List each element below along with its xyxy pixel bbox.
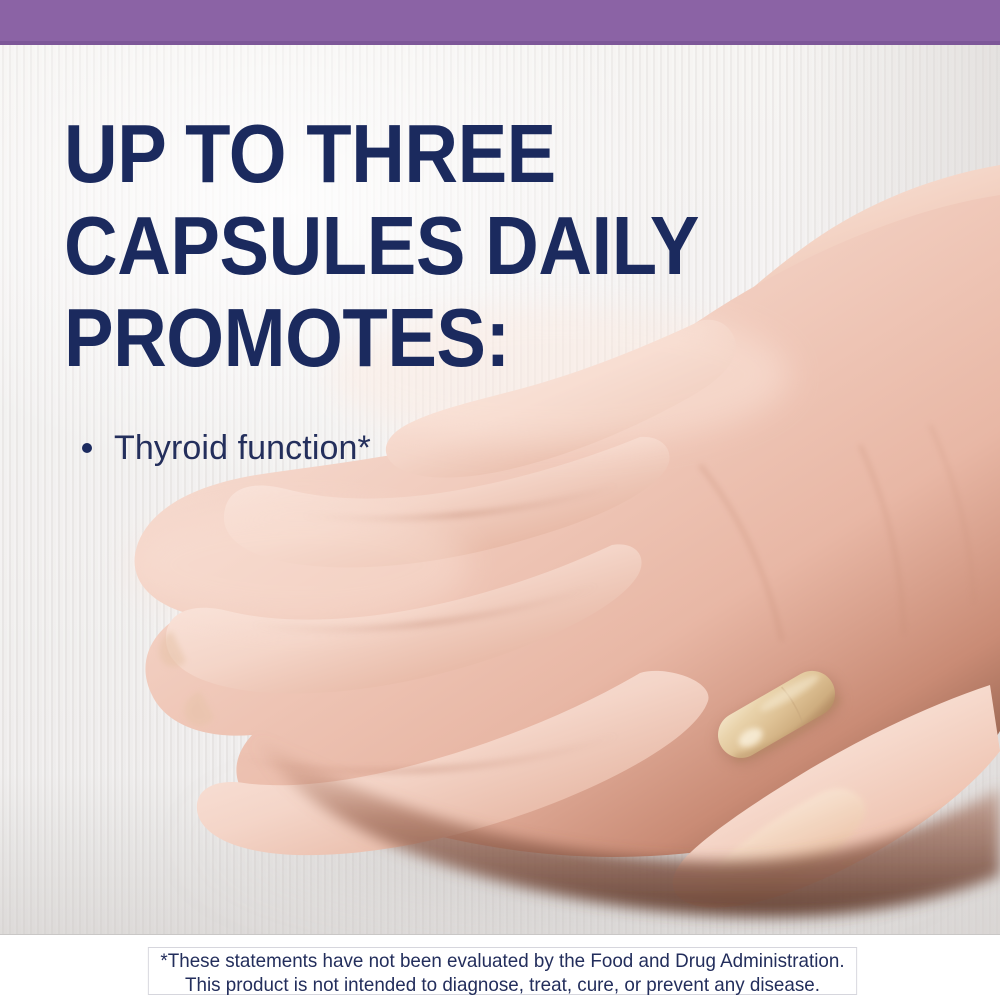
finger-highlight bbox=[130, 505, 470, 625]
page-title: UP TO THREE CAPSULES DAILY PROMOTES: bbox=[64, 108, 744, 384]
list-item: Thyroid function* bbox=[82, 428, 682, 468]
benefit-label: Thyroid function* bbox=[114, 428, 371, 468]
product-marketing-panel: UP TO THREE CAPSULES DAILY PROMOTES: Thy… bbox=[0, 0, 1000, 1000]
benefits-list: Thyroid function* bbox=[82, 428, 682, 468]
top-accent-bar bbox=[0, 0, 1000, 45]
footer: *These statements have not been evaluate… bbox=[0, 935, 1000, 1000]
fda-disclaimer-line-2: This product is not intended to diagnose… bbox=[149, 973, 856, 997]
bullet-icon bbox=[82, 443, 92, 453]
fda-disclaimer: *These statements have not been evaluate… bbox=[148, 947, 857, 995]
fda-disclaimer-line-1: *These statements have not been evaluate… bbox=[149, 949, 856, 973]
